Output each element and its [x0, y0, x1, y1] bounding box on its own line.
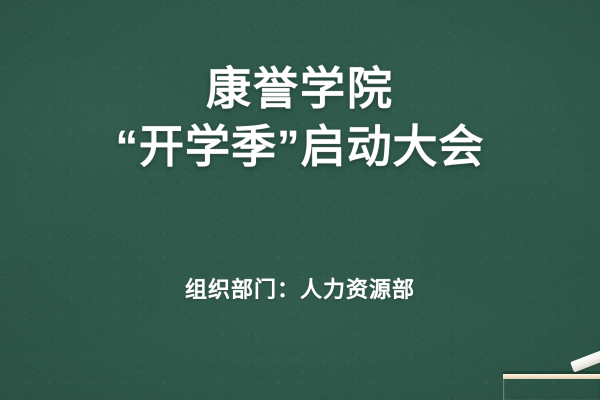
slide-title: 康誉学院 “开学季”启动大会 [0, 60, 600, 176]
slide-content: 康誉学院 “开学季”启动大会 组织部门：人力资源部 [0, 0, 600, 400]
chalk-ledge-lip [503, 374, 600, 379]
title-line-2: “开学季”启动大会 [0, 118, 600, 176]
chalk-ledge-icon [503, 374, 600, 400]
slide-subtitle: 组织部门：人力资源部 [0, 276, 600, 304]
chalkboard-slide: 康誉学院 “开学季”启动大会 组织部门：人力资源部 [0, 0, 600, 400]
title-line-1: 康誉学院 [0, 60, 600, 118]
subtitle-text: 组织部门：人力资源部 [0, 276, 600, 304]
